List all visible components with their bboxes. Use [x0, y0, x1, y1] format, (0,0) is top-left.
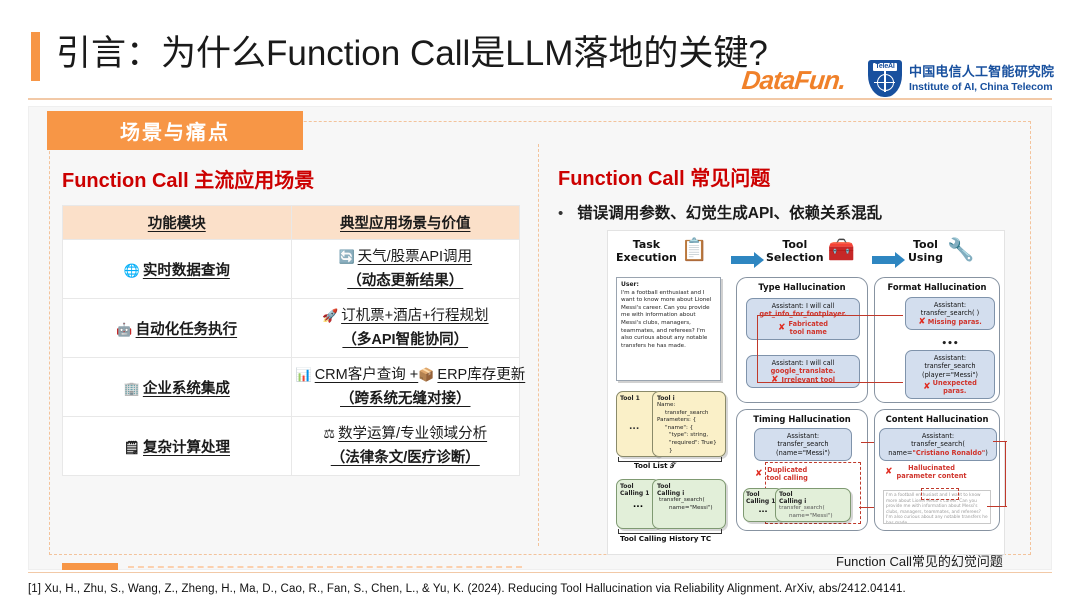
error-line-1: Missing paras. — [928, 318, 982, 326]
error-line-1: Unexpected — [933, 379, 977, 387]
content-hallucination-item-1: Assistant: transfer_search( name="Cristi… — [879, 428, 997, 461]
robot-icon: 🤖 — [116, 322, 132, 337]
module-label: 复杂计算处理 — [143, 440, 230, 456]
left-column: Function Call 主流应用场景 功能模块 典型应用场景与价值 🌐实时数… — [62, 168, 522, 476]
globe-icon: 🌐 — [124, 263, 140, 278]
hand-wrench-icon: 🔧 — [947, 239, 974, 263]
stage-tool-using: Tool Using 🔧 — [908, 238, 974, 264]
tool-ellipsis: ... — [629, 422, 639, 432]
value-line-2: （跨系统无缝对接） — [340, 391, 471, 407]
cell-module: 🗒复杂计算处理 — [63, 417, 292, 476]
table-row: 🗒复杂计算处理 ⚖数学运算/专业领域分析 （法律条文/医疗诊断） — [63, 417, 520, 476]
tool-line: Name: — [657, 402, 721, 410]
stage-label-line1: Task — [616, 238, 677, 251]
timing-ref-card-i: Tool Calling i transfer_search( name="Me… — [775, 488, 851, 522]
assistant-code: google_translate. — [749, 367, 857, 376]
stage-label-line2: Selection — [766, 251, 824, 264]
assistant-head: Assistant: I will call — [749, 359, 857, 368]
assistant-code: transfer_search — [757, 440, 849, 449]
rocket-icon: 🚀 — [322, 308, 338, 323]
tool-line: transfer_search — [657, 410, 721, 418]
content-hallucination-box: Content Hallucination Assistant: transfe… — [874, 409, 1000, 531]
type-hallucination-title: Type Hallucination — [737, 282, 867, 292]
stage-label-line2: Execution — [616, 251, 677, 264]
citation-text: [1] Xu, H., Zhu, S., Wang, Z., Zheng, H.… — [28, 583, 906, 595]
slide: 引言：为什么Function Call是LLM落地的关键? DataFun. T… — [0, 0, 1080, 608]
package-icon: 📦 — [418, 367, 434, 382]
value-line-1: 天气/股票API调用 — [358, 249, 472, 265]
cell-module: 🤖自动化任务执行 — [63, 299, 292, 358]
cell-value: 📊CRM客户查询 +📦ERP库存更新 （跨系统无缝对接） — [291, 358, 520, 417]
value-line-2: （多API智能协同） — [342, 332, 468, 348]
error-mark-icon: ✘ — [755, 469, 763, 479]
logo-title-cn: 中国电信人工智能研究院 — [909, 64, 1054, 80]
cell-value: 🚀订机票+酒店+行程规划 （多API智能协同） — [291, 299, 520, 358]
error-mark-icon: ✘ — [778, 324, 786, 333]
assistant-code: transfer_search — [908, 362, 992, 371]
page-title: 引言：为什么Function Call是LLM落地的关键? — [56, 24, 768, 84]
format-connector-2 — [757, 382, 903, 383]
content-connector-bottom — [987, 506, 1007, 507]
error-line-2: paras. — [933, 387, 977, 395]
footer-divider — [28, 572, 1052, 573]
table-row: 🌐实时数据查询 🔄天气/股票API调用 （动态更新结果） — [63, 240, 520, 299]
user-query-text: I'm a football enthusiast and I want to … — [621, 290, 716, 351]
cell-value: ⚖数学运算/专业领域分析 （法律条文/医疗诊断） — [291, 417, 520, 476]
tool-line: Parameters: { — [657, 417, 721, 425]
issue-bullet: • 错误调用参数、幻觉生成API、依赖关系混乱 — [558, 203, 1028, 225]
table-row: 🤖自动化任务执行 🚀订机票+酒店+行程规划 （多API智能协同） — [63, 299, 520, 358]
header-divider — [28, 98, 1052, 100]
assistant-code-suffix: ) — [985, 449, 988, 457]
content-connector-vert — [1005, 441, 1006, 507]
stage-label-line1: Tool — [766, 238, 824, 251]
hallucination-figure: Task Execution 📋 Tool Selection 🧰 Tool U… — [607, 230, 1005, 555]
tool-line: "type": string, — [657, 432, 721, 440]
value-line-1: CRM客户查询 + — [315, 367, 419, 383]
cell-module: 🌐实时数据查询 — [63, 240, 292, 299]
cell-value: 🔄天气/股票API调用 （动态更新结果） — [291, 240, 520, 299]
tool-line: "name": { — [657, 425, 721, 433]
toolbox-icon: 🧰 — [828, 239, 855, 263]
assistant-code-2: (player="Messi") — [908, 371, 992, 380]
tool-line: "required": True} } — [657, 440, 721, 455]
assistant-head: Assistant: — [908, 354, 992, 363]
datafun-watermark: DataFun. — [740, 65, 846, 96]
teleai-logo: TeleAI 中国电信人工智能研究院 Institute of AI, Chin… — [868, 60, 1054, 97]
tool-list-group: Tool 1 ... Tool i Name: transfer_search … — [616, 391, 726, 469]
left-heading: Function Call 主流应用场景 — [62, 168, 522, 194]
slide-header: 引言：为什么Function Call是LLM落地的关键? DataFun. T… — [0, 24, 1080, 90]
figure-stage-row: Task Execution 📋 Tool Selection 🧰 Tool U… — [608, 234, 1006, 276]
format-connector-vert — [757, 315, 758, 383]
assistant-code-2: (name="Messi") — [757, 449, 849, 458]
module-label: 企业系统集成 — [143, 381, 230, 397]
user-speaker-label: User: — [621, 281, 639, 288]
progress-segment — [62, 563, 118, 570]
arrow-2-icon — [872, 256, 896, 264]
right-heading: Function Call 常见问题 — [558, 166, 1028, 192]
timing-hallucination-item-1: Assistant: transfer_search (name="Messi"… — [754, 428, 852, 461]
assistant-code-highlight: "Cristiano Ronaldo" — [912, 449, 985, 457]
arrow-1-icon — [731, 256, 755, 264]
format-hallucination-item-2: Assistant: transfer_search (player="Mess… — [905, 350, 995, 399]
stage-task-execution: Task Execution 📋 — [616, 238, 708, 264]
user-query-box: User: I'm a football enthusiast and I wa… — [616, 277, 721, 381]
assistant-head: Assistant: I will call — [749, 302, 857, 311]
assistant-head: Assistant: — [882, 432, 994, 441]
value-line-2: （法律条文/医疗诊断） — [331, 450, 480, 466]
error-mark-icon: ✘ — [885, 467, 893, 477]
teleai-badge-text: TeleAI — [873, 63, 896, 71]
module-label: 自动化任务执行 — [136, 322, 238, 338]
error-mark-icon: ✘ — [918, 318, 926, 327]
error-line-1: Hallucinated — [897, 464, 967, 472]
calling-ellipsis: ... — [620, 500, 656, 510]
content-dashed-highlight — [921, 488, 959, 500]
column-divider — [538, 144, 539, 546]
value-line-2: （动态更新结果） — [347, 273, 463, 289]
error-mark-icon: ✘ — [923, 383, 931, 392]
timing-hallucination-box: Timing Hallucination Assistant: transfer… — [736, 409, 868, 531]
bullet-text: 错误调用参数、幻觉生成API、依赖关系混乱 — [577, 203, 882, 225]
scales-icon: ⚖ — [323, 426, 335, 441]
barchart-icon: 📊 — [296, 367, 312, 382]
format-separator: ••• — [905, 339, 995, 349]
timing-hallucination-title: Timing Hallucination — [737, 414, 867, 424]
error-line-2: parameter content — [897, 472, 967, 480]
format-hallucination-title: Format Hallucination — [875, 282, 999, 292]
stage-tool-selection: Tool Selection 🧰 — [766, 238, 855, 264]
assistant-head: Assistant: — [757, 432, 849, 441]
format-hallucination-item-1: Assistant: transfer_search( ) ✘ Missing … — [905, 297, 995, 330]
stage-label-line2: Using — [908, 251, 943, 264]
checklist-icon: 📋 — [681, 239, 708, 263]
type-hallucination-box: Type Hallucination Assistant: I will cal… — [736, 277, 868, 403]
format-hallucination-box: Format Hallucination Assistant: transfer… — [874, 277, 1000, 403]
column-header-value: 典型应用场景与价值 — [291, 206, 520, 240]
column-header-module: 功能模块 — [63, 206, 292, 240]
refresh-icon: 🔄 — [338, 249, 354, 264]
value-line-1: 数学运算/专业领域分析 — [338, 426, 487, 442]
stage-label-line1: Tool — [908, 238, 943, 251]
figure-caption: Function Call常见的幻觉问题 — [836, 551, 1003, 570]
table-header-row: 功能模块 典型应用场景与价值 — [63, 206, 520, 240]
cell-module: 🏢企业系统集成 — [63, 358, 292, 417]
module-label: 实时数据查询 — [143, 263, 230, 279]
table-row: 🏢企业系统集成 📊CRM客户查询 +📦ERP库存更新 （跨系统无缝对接） — [63, 358, 520, 417]
title-accent-bar — [31, 32, 40, 81]
assistant-code: transfer_search( — [882, 440, 994, 449]
section-tab: 场景与痛点 — [47, 111, 303, 150]
section-tab-label: 场景与痛点 — [120, 116, 230, 145]
tool-list-caption: Tool List 𝒯 — [634, 461, 676, 471]
type-hallucination-item-1: Assistant: I will call get_info_for_foot… — [746, 298, 860, 340]
value-line-1b: ERP库存更新 — [437, 367, 525, 383]
building-icon: 🏢 — [124, 381, 140, 396]
tool-calling-card-i: Tool Calling i transfer_search( name="Me… — [652, 479, 726, 529]
error-line-1: Fabricated — [789, 320, 829, 328]
progress-dashes — [128, 566, 522, 568]
teleai-shield-icon: TeleAI — [868, 60, 902, 97]
bullet-marker-icon: • — [558, 203, 563, 225]
error-line-2: tool name — [789, 328, 829, 336]
tool-card-i: Tool i Name: transfer_search Parameters:… — [652, 391, 726, 457]
tool-calling-history-group: Tool Calling 1 ... Tool Calling i transf… — [616, 479, 726, 543]
value-line-1: 订机票+酒店+行程规划 — [341, 308, 488, 324]
format-connector-1 — [757, 315, 903, 316]
right-column: Function Call 常见问题 • 错误调用参数、幻觉生成API、依赖关系… — [558, 166, 1028, 225]
table-icon: 🗒 — [123, 440, 140, 455]
teleai-glyph-icon — [877, 74, 894, 91]
content-hallucination-title: Content Hallucination — [875, 414, 999, 424]
scenario-table: 功能模块 典型应用场景与价值 🌐实时数据查询 🔄天气/股票API调用 （动态更新… — [62, 205, 520, 476]
assistant-code-prefix: name= — [888, 449, 912, 457]
logo-title-en: Institute of AI, China Telecom — [909, 80, 1054, 94]
tool-calling-caption: Tool Calling History TC — [620, 534, 711, 543]
progress-indicator — [62, 562, 522, 571]
assistant-head: Assistant: — [908, 301, 992, 310]
